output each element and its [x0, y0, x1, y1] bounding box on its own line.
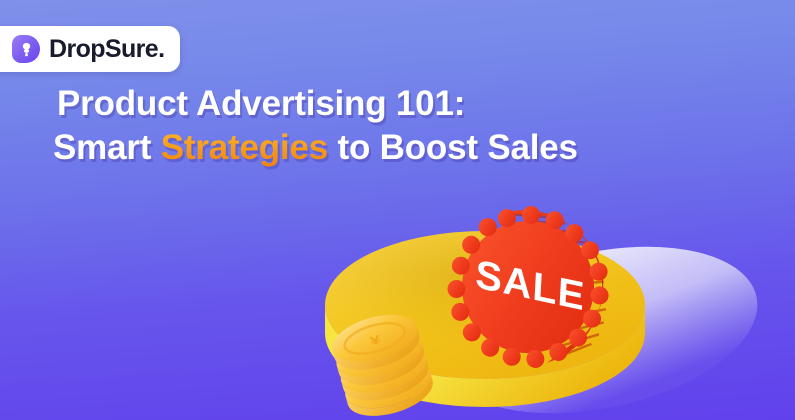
headline-line-1: Product Advertising 101: — [57, 82, 713, 126]
headline-line-2-prefix: Smart — [53, 128, 161, 167]
promo-banner: DropSure. Product Advertising 101: Smart… — [0, 0, 795, 420]
headline-line-2: Smart Strategies to Boost Sales — [53, 126, 713, 170]
sale-illustration: SALE ¥ — [300, 190, 795, 420]
brand-wordmark: DropSure. — [49, 37, 164, 62]
brand-logo[interactable]: DropSure. — [0, 26, 180, 72]
headline-accent-word: Strategies — [161, 128, 328, 167]
headline-line-2-suffix: to Boost Sales — [328, 128, 578, 167]
dropsure-droplet-icon — [12, 35, 40, 63]
headline: Product Advertising 101: Smart Strategie… — [53, 82, 713, 170]
